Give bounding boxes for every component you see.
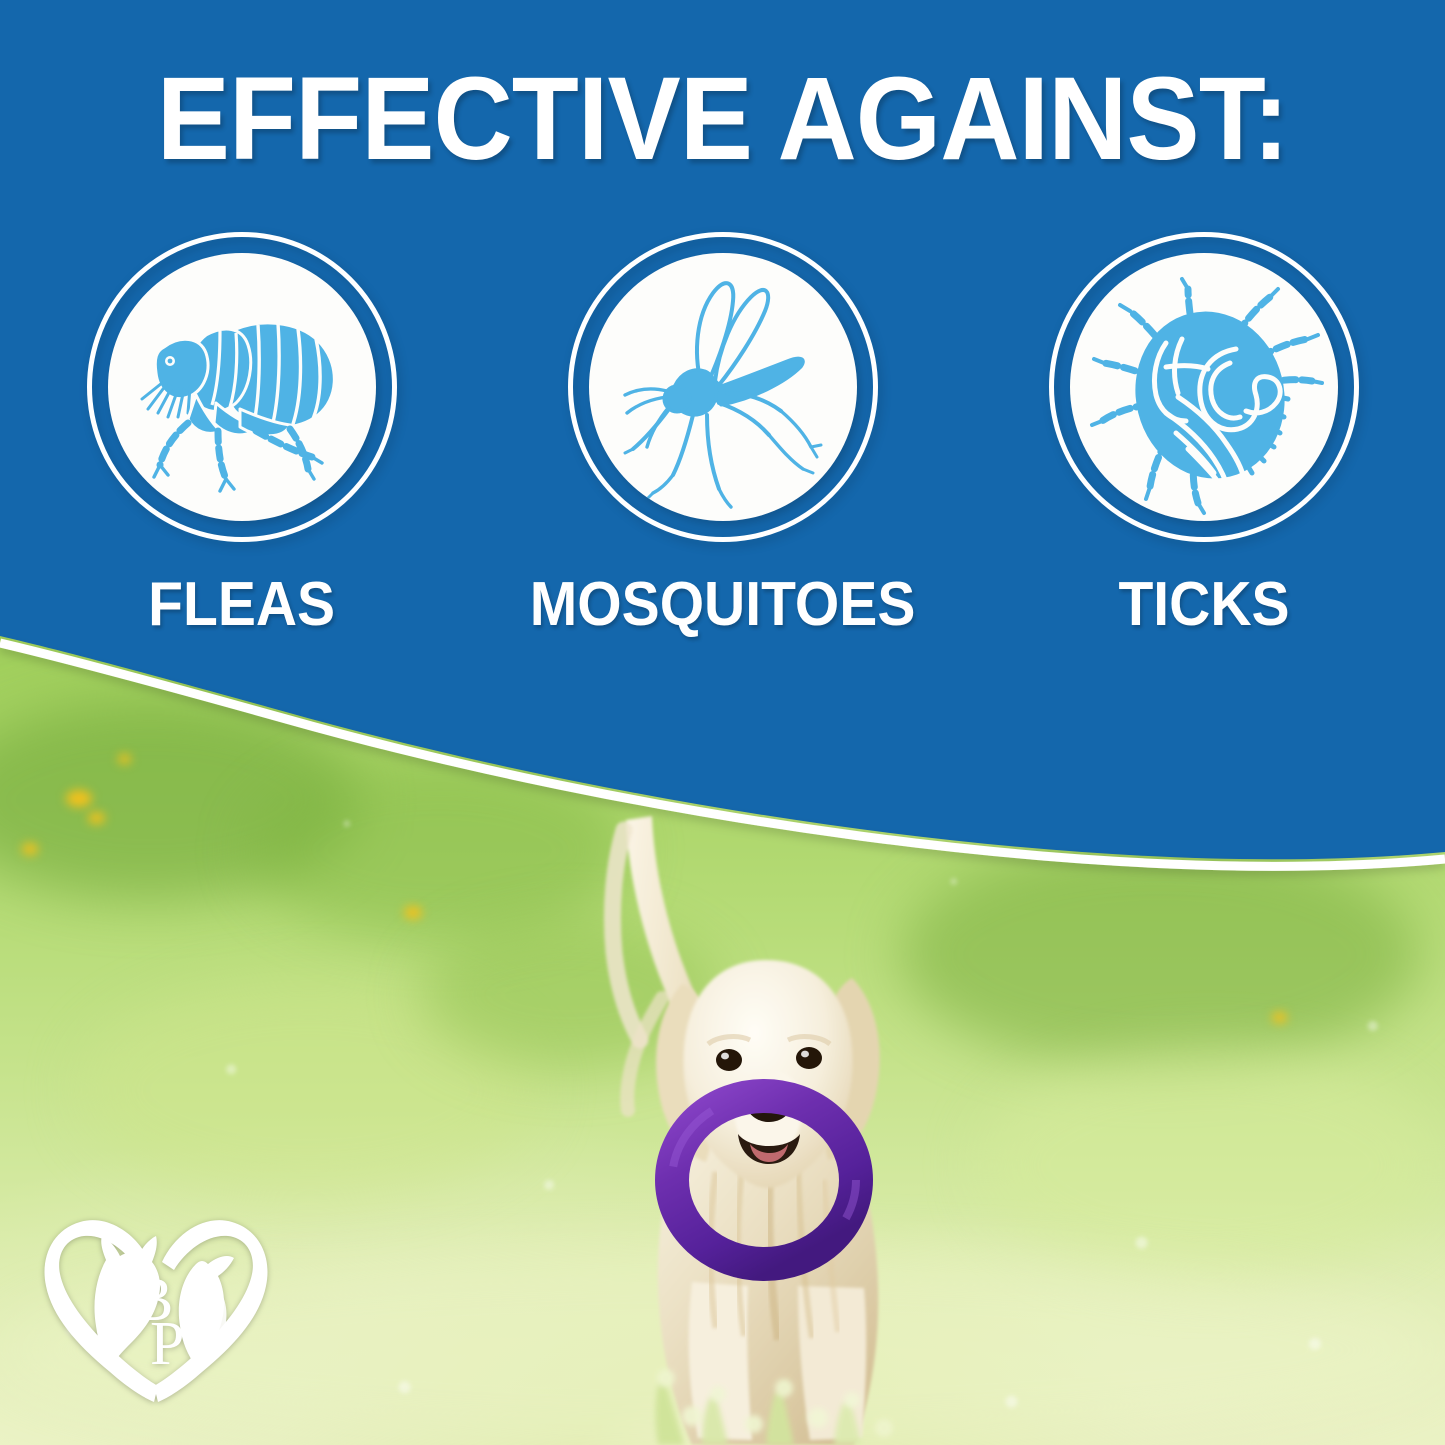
page-title: EFFECTIVE AGAINST: — [51, 60, 1395, 178]
logo-letter-p: P — [150, 1310, 184, 1378]
pest-label-fleas: FLEAS — [148, 574, 335, 636]
badge-inner-ticks — [1070, 253, 1338, 521]
badge-inner-fleas — [108, 253, 376, 521]
dandelion-flower — [404, 906, 422, 919]
pest-item-fleas: FLEAS — [1, 232, 482, 636]
brand-logo: B P — [32, 1208, 282, 1403]
pest-item-mosquitoes: MOSQUITOES — [482, 232, 963, 636]
dog-eye-left — [716, 1049, 742, 1071]
heart-pet-logo: B P — [32, 1208, 282, 1403]
pest-item-ticks: TICKS — [963, 232, 1444, 636]
dog-eye-right — [796, 1047, 822, 1069]
badge-mosquitoes — [568, 232, 878, 542]
badge-ticks — [1049, 232, 1359, 542]
tick-icon — [1070, 253, 1338, 521]
badge-inner-mosquitoes — [589, 253, 857, 521]
product-feature-image: EFFECTIVE AGAINST: — [0, 0, 1445, 1445]
mosquito-icon — [589, 253, 857, 521]
dandelion-flower — [1272, 1012, 1287, 1023]
pest-label-mosquitoes: MOSQUITOES — [530, 574, 916, 636]
pest-label-ticks: TICKS — [1118, 574, 1289, 636]
flea-icon — [108, 253, 376, 521]
golden-retriever-dog — [566, 812, 956, 1445]
pest-icon-row: FLEAS — [0, 232, 1445, 636]
badge-fleas — [87, 232, 397, 542]
